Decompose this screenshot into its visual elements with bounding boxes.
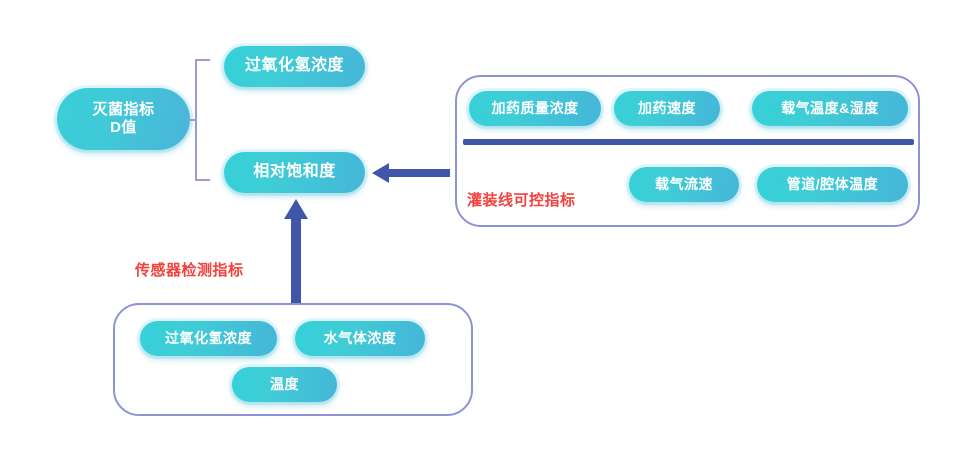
node-root-line1: 灭菌指标	[92, 101, 154, 119]
node-root-sterilization-index[interactable]: 灭菌指标 D值	[57, 88, 190, 150]
node-control-pipe-chamber-temp[interactable]: 管道/腔体温度	[757, 167, 908, 202]
control-row1-0-label: 加药质量浓度	[492, 100, 579, 117]
node-control-carrier-gas-flow-rate[interactable]: 载气流速	[629, 167, 739, 202]
node-root-line2: D值	[110, 119, 137, 137]
sensor-to-saturation-arrow	[282, 199, 310, 311]
sensor-row1-0-label: 过氧化氢浓度	[165, 330, 252, 347]
control-row2-1-label: 管道/腔体温度	[787, 176, 878, 193]
control-panel-divider	[463, 139, 914, 145]
sensor-indicators-annotation: 传感器检测指标	[135, 259, 244, 280]
node-outcome-1-label: 相对饱和度	[253, 163, 336, 182]
sensor-indicators-panel: 过氧化氢浓度 水气体浓度 温度	[113, 303, 473, 416]
diagram-canvas: 灭菌指标 D值 过氧化氢浓度 相对饱和度 加药质量浓度 加药速度 载气温度&湿度	[0, 0, 976, 467]
node-outcome-0-label: 过氧化氢浓度	[245, 57, 344, 76]
node-control-dosing-speed[interactable]: 加药速度	[614, 91, 720, 126]
node-sensor-temperature[interactable]: 温度	[232, 367, 337, 402]
control-indicators-annotation: 灌装线可控指标	[467, 189, 576, 210]
control-row2-0-label: 载气流速	[655, 176, 713, 193]
node-sensor-water-vapor-concentration[interactable]: 水气体浓度	[295, 321, 425, 356]
node-sensor-h2o2-concentration[interactable]: 过氧化氢浓度	[140, 321, 277, 356]
control-row1-2-label: 载气温度&湿度	[781, 100, 879, 117]
node-outcome-relative-saturation[interactable]: 相对饱和度	[224, 152, 365, 193]
node-control-carrier-gas-temp-humidity[interactable]: 载气温度&湿度	[752, 91, 908, 126]
sensor-row2-0-label: 温度	[270, 376, 299, 393]
node-control-dosing-mass-concentration[interactable]: 加药质量浓度	[469, 91, 601, 126]
control-to-saturation-arrow	[372, 160, 450, 186]
control-row1-1-label: 加药速度	[638, 100, 696, 117]
sensor-row1-1-label: 水气体浓度	[324, 330, 397, 347]
node-outcome-h2o2-concentration[interactable]: 过氧化氢浓度	[224, 46, 365, 87]
